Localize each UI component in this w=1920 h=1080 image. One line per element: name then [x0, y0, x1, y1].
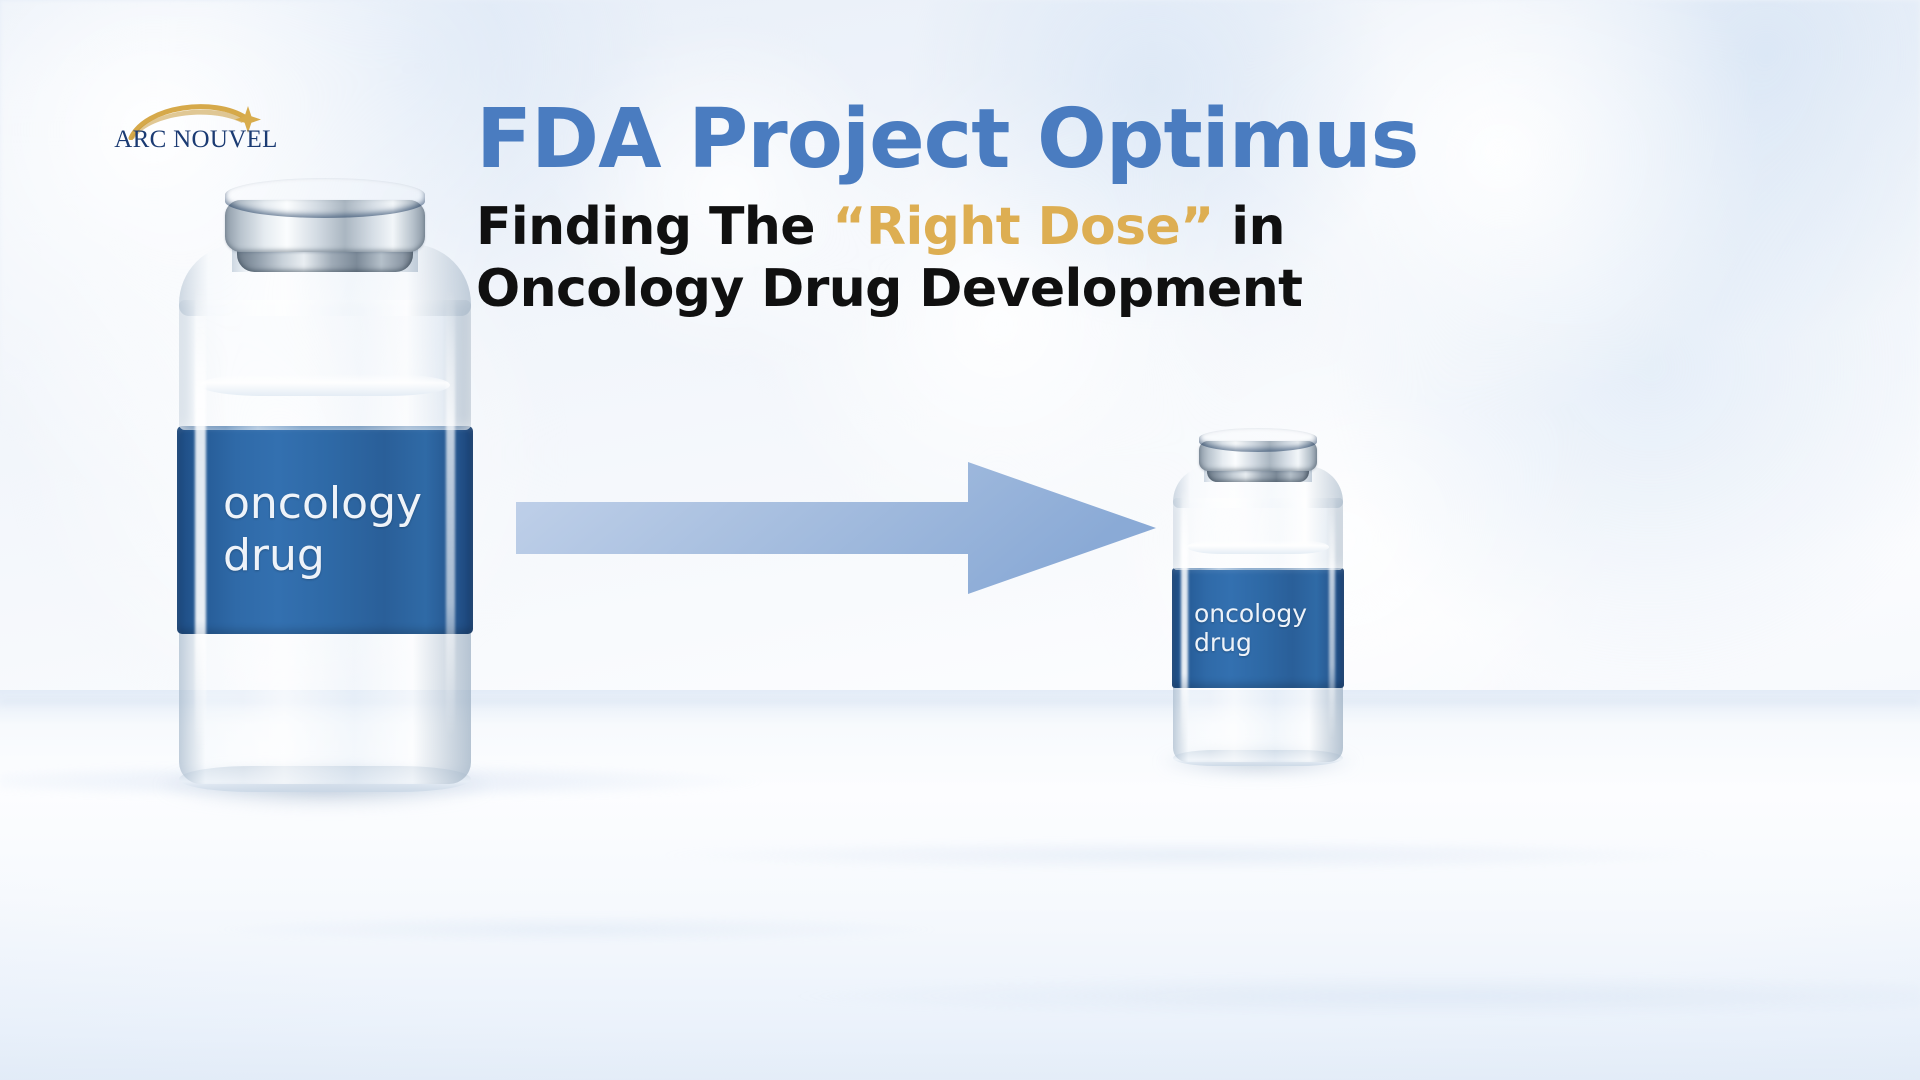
vial-large-label-text: oncology drug — [223, 478, 473, 582]
vial-large-body-glass — [179, 300, 471, 430]
subtitle-line-two: Oncology Drug Development — [476, 259, 1302, 319]
subtitle-text-before: Finding The — [476, 197, 832, 257]
vial-small-rubber-cap — [1199, 428, 1317, 452]
subtitle-highlight: “Right Dose” — [832, 197, 1213, 257]
vial-large-liquid-surface — [200, 374, 450, 396]
brand-name: ARC NOUVEL — [96, 126, 296, 154]
vial-large-highlight-right — [446, 288, 455, 738]
vial-small-body-glass — [1173, 498, 1343, 570]
vial-small-highlight-left — [1181, 488, 1188, 746]
brand-logo[interactable]: ARC NOUVEL — [96, 96, 296, 158]
right-arrow-icon — [516, 462, 1156, 594]
vial-small: oncology drug — [1165, 428, 1351, 770]
subtitle-text-after: in — [1214, 197, 1285, 257]
poster-canvas: ARC NOUVEL FDA Project Optimus Finding T… — [0, 0, 1920, 1080]
page-title: FDA Project Optimus — [476, 98, 1876, 182]
headline-block: FDA Project Optimus Finding The “Right D… — [476, 98, 1876, 320]
vial-large-label: oncology drug — [177, 426, 473, 634]
vial-small-label-text: oncology drug — [1194, 599, 1344, 658]
vial-large-lower-glass — [179, 624, 471, 784]
vial-large-highlight-left — [195, 282, 206, 752]
vial-small-highlight-right — [1329, 492, 1335, 740]
vial-small-liquid-surface — [1187, 540, 1329, 554]
vial-large: oncology drug — [165, 178, 485, 798]
vial-small-label: oncology drug — [1172, 568, 1344, 688]
page-subtitle: Finding The “Right Dose” in Oncology Dru… — [476, 196, 1876, 320]
vial-large-rubber-cap — [225, 178, 425, 218]
